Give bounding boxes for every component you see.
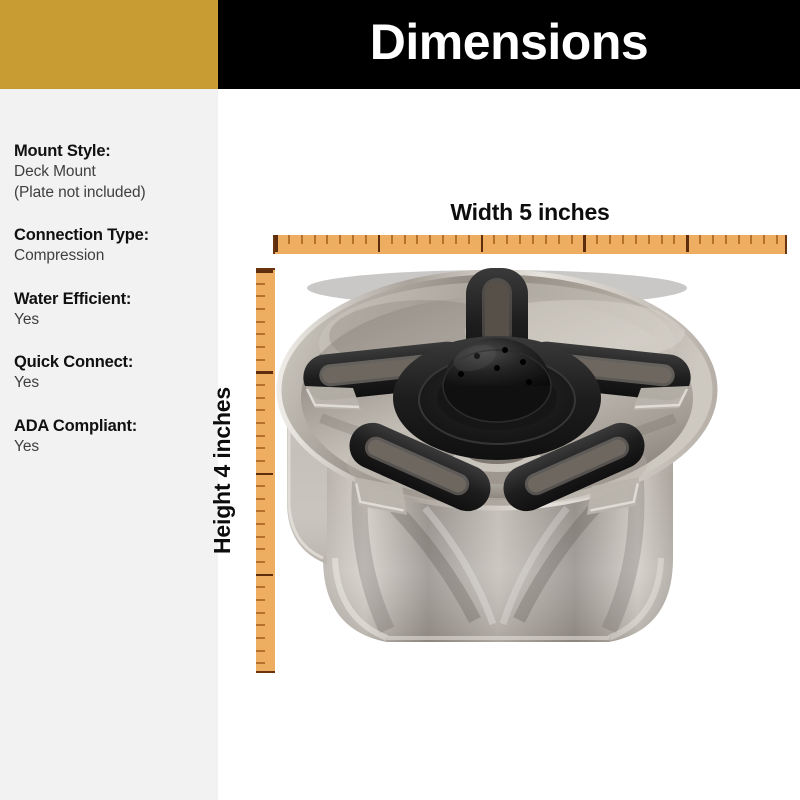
spec-quick-connect: Quick Connect: Yes — [14, 352, 218, 394]
ruler-minor-tick — [256, 435, 265, 437]
ruler-minor-tick — [493, 235, 495, 244]
ruler-minor-tick — [468, 235, 470, 244]
ruler-minor-tick — [256, 283, 265, 285]
spec-label: ADA Compliant: — [14, 416, 218, 437]
ruler-minor-tick — [763, 235, 765, 244]
spec-label: Mount Style: — [14, 141, 218, 162]
height-ruler — [256, 268, 275, 673]
ruler-minor-tick — [256, 650, 265, 652]
ruler-minor-tick — [699, 235, 701, 244]
spec-label: Connection Type: — [14, 225, 218, 246]
ruler-minor-tick — [622, 235, 624, 244]
ruler-minor-tick — [506, 235, 508, 244]
ruler-minor-tick — [532, 235, 534, 244]
ruler-minor-tick — [256, 308, 265, 310]
ruler-minor-tick — [339, 235, 341, 244]
spec-value-note: (Plate not included) — [14, 183, 218, 203]
ruler-minor-tick — [365, 235, 367, 244]
ruler-minor-tick — [750, 235, 752, 244]
spec-water-efficient: Water Efficient: Yes — [14, 289, 218, 331]
ruler-minor-tick — [326, 235, 328, 244]
width-label: Width 5 inches — [273, 199, 787, 226]
ruler-minor-tick — [738, 235, 740, 244]
ruler-minor-tick — [455, 235, 457, 244]
nozzle-hole — [520, 359, 526, 365]
ruler-major-tick — [256, 473, 273, 476]
ruler-minor-tick — [256, 447, 265, 449]
ruler-minor-tick — [288, 235, 290, 244]
spec-value: Yes — [14, 437, 218, 457]
ruler-minor-tick — [391, 235, 393, 244]
ruler-major-tick — [256, 371, 273, 374]
ruler-minor-tick — [256, 397, 265, 399]
ruler-minor-tick — [596, 235, 598, 244]
ruler-minor-tick — [256, 346, 265, 348]
ruler-minor-tick — [256, 498, 265, 500]
ruler-minor-tick — [256, 422, 265, 424]
ruler-minor-tick — [442, 235, 444, 244]
ruler-minor-tick — [256, 409, 265, 411]
ruler-major-tick — [787, 235, 788, 252]
nozzle-hole — [526, 379, 532, 385]
spec-value: Deck Mount — [14, 162, 218, 182]
ruler-minor-tick — [256, 485, 265, 487]
ruler-major-tick — [583, 235, 586, 252]
ruler-minor-tick — [545, 235, 547, 244]
ruler-minor-tick — [256, 359, 265, 361]
ruler-minor-tick — [256, 384, 265, 386]
page-title: Dimensions — [218, 0, 800, 89]
ruler-minor-tick — [256, 523, 265, 525]
ruler-minor-tick — [256, 510, 265, 512]
ruler-minor-tick — [256, 536, 265, 538]
spec-label: Quick Connect: — [14, 352, 218, 373]
spec-ada-compliant: ADA Compliant: Yes — [14, 416, 218, 458]
spec-mount-style: Mount Style: Deck Mount (Plate not inclu… — [14, 141, 218, 203]
ruler-minor-tick — [256, 333, 265, 335]
ruler-minor-tick — [256, 460, 265, 462]
ruler-major-tick — [275, 235, 278, 252]
ruler-minor-tick — [558, 235, 560, 244]
spec-connection-type: Connection Type: Compression — [14, 225, 218, 267]
dimensions-infographic: Dimensions Mount Style: Deck Mount (Plat… — [0, 0, 800, 800]
product-image-glass-rinser — [275, 258, 720, 678]
ruler-major-tick — [256, 574, 273, 577]
ruler-minor-tick — [648, 235, 650, 244]
ruler-minor-tick — [256, 548, 265, 550]
height-label-text: Height 4 inches — [209, 387, 236, 554]
header-bar: Dimensions — [0, 0, 800, 89]
ruler-minor-tick — [571, 235, 573, 244]
ruler-minor-tick — [673, 235, 675, 244]
ruler-minor-tick — [256, 624, 265, 626]
ruler-minor-tick — [725, 235, 727, 244]
ruler-minor-tick — [256, 662, 265, 664]
spec-value: Compression — [14, 246, 218, 266]
ruler-minor-tick — [314, 235, 316, 244]
ruler-minor-tick — [404, 235, 406, 244]
ruler-major-tick — [481, 235, 484, 252]
nozzle-hole — [494, 365, 500, 371]
ruler-minor-tick — [256, 599, 265, 601]
spec-label: Water Efficient: — [14, 289, 218, 310]
ruler-minor-tick — [712, 235, 714, 244]
ruler-major-tick — [378, 235, 381, 252]
ruler-major-tick — [256, 673, 273, 674]
ruler-minor-tick — [256, 637, 265, 639]
ruler-major-tick — [686, 235, 689, 252]
ruler-minor-tick — [609, 235, 611, 244]
nozzle-hole — [458, 371, 464, 377]
ruler-minor-tick — [256, 586, 265, 588]
ruler-minor-tick — [519, 235, 521, 244]
spec-value: Yes — [14, 310, 218, 330]
specs-sidebar: Mount Style: Deck Mount (Plate not inclu… — [0, 89, 218, 800]
ruler-minor-tick — [256, 295, 265, 297]
header-gold-block — [0, 0, 218, 89]
ruler-minor-tick — [352, 235, 354, 244]
ruler-minor-tick — [256, 561, 265, 563]
ruler-minor-tick — [429, 235, 431, 244]
width-ruler — [273, 235, 787, 254]
spec-value: Yes — [14, 373, 218, 393]
ruler-minor-tick — [256, 612, 265, 614]
ruler-minor-tick — [301, 235, 303, 244]
ruler-major-tick — [256, 270, 273, 273]
ruler-minor-tick — [635, 235, 637, 244]
ruler-minor-tick — [661, 235, 663, 244]
ruler-minor-tick — [256, 321, 265, 323]
ruler-minor-tick — [776, 235, 778, 244]
nozzle-hole — [502, 347, 508, 353]
height-label: Height 4 inches — [207, 268, 237, 673]
ruler-minor-tick — [416, 235, 418, 244]
